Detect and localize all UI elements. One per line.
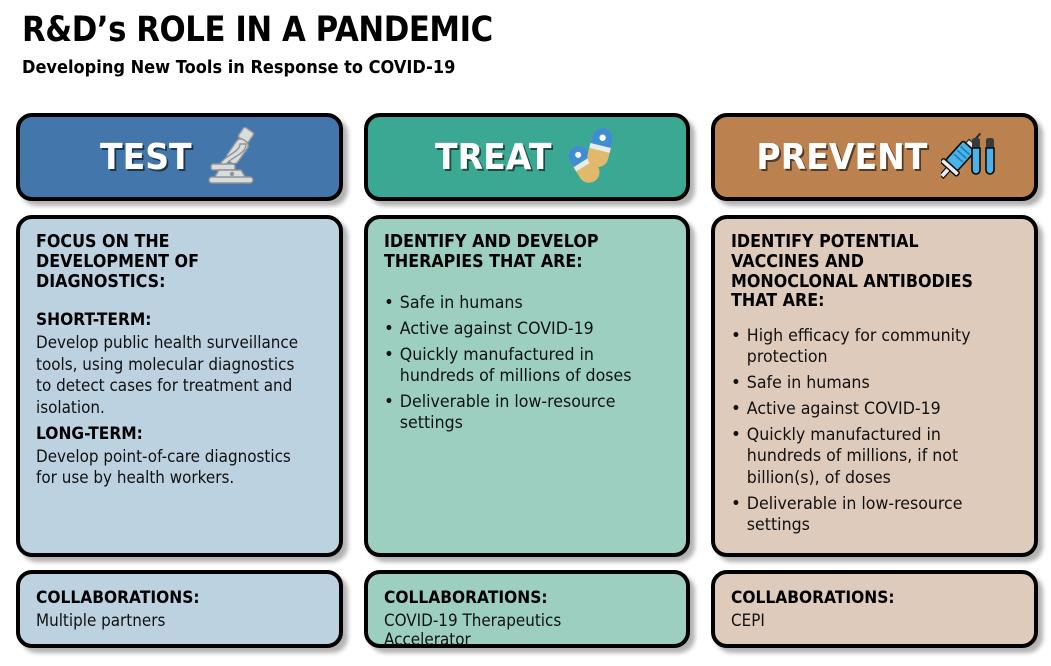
bullet-list-prevent: High efficacy for community protection S… [731,326,999,536]
panel-heading-treat: IDENTIFY AND DEVELOP THERAPIES THAT ARE: [384,233,647,273]
pill-header-treat[interactable]: TREAT [364,113,691,201]
list-item: High efficacy for community protection [731,326,999,368]
list-item: Safe in humans [731,373,999,394]
section-short-term: SHORT-TERM: Develop public health survei… [36,310,325,418]
collab-value-prevent: CEPI [731,611,995,630]
panel-test: FOCUS ON THE DEVELOPMENT OF DIAGNOSTICS:… [16,215,343,557]
list-item: Active against COVID-19 [384,319,652,340]
body-text-long-term: Develop point-of-care diagnostics for us… [36,446,302,489]
collab-value-test: Multiple partners [36,611,300,630]
bullet-list-treat: Safe in humans Active against COVID-19 Q… [384,293,652,434]
pill-header-prevent[interactable]: PREVENT [711,113,1038,201]
page-header: R&D’s ROLE IN A PANDEMIC Developing New … [0,0,1051,78]
collab-label-test: COLLABORATIONS: [36,588,297,608]
collab-value-treat: COVID-19 Therapeutics Accelerator [384,611,648,649]
column-prevent: PREVENT [711,113,1038,648]
collaborations-test: COLLABORATIONS: Multiple partners [16,570,343,648]
panel-heading-prevent: IDENTIFY POTENTIAL VACCINES AND MONOCLON… [731,233,994,312]
list-item: Quickly manufactured in hundreds of mill… [384,345,652,387]
collab-label-treat: COLLABORATIONS: [384,588,645,608]
panel-treat: IDENTIFY AND DEVELOP THERAPIES THAT ARE:… [364,215,691,557]
page-title: R&D’s ROLE IN A PANDEMIC [22,12,928,49]
list-item: Active against COVID-19 [731,399,999,420]
pillar-columns: TEST FOCUS ON THE DEVELOPMENT OF DIAGN [16,113,1038,648]
sub-head-short-term: SHORT-TERM: [36,310,299,330]
microscope-icon [201,124,263,191]
page-subtitle: Developing New Tools in Response to COVI… [22,57,948,78]
pill-label-prevent: PREVENT [756,137,927,178]
collab-label-prevent: COLLABORATIONS: [731,588,992,608]
section-long-term: LONG-TERM: Develop point-of-care diagnos… [36,424,325,489]
syringe-and-vials-icon [941,124,1001,191]
panel-prevent: IDENTIFY POTENTIAL VACCINES AND MONOCLON… [711,215,1038,557]
pills-capsules-icon [562,124,624,191]
list-item: Deliverable in low-resource settings [731,494,999,536]
pill-header-test[interactable]: TEST [16,113,343,201]
body-text-short-term: Develop public health surveillance tools… [36,332,302,418]
pill-label-test: TEST [100,137,192,178]
column-test: TEST FOCUS ON THE DEVELOPMENT OF DIAGN [16,113,343,648]
collaborations-treat: COLLABORATIONS: COVID-19 Therapeutics Ac… [364,570,691,648]
panel-heading-test: FOCUS ON THE DEVELOPMENT OF DIAGNOSTICS: [36,233,299,292]
list-item: Safe in humans [384,293,652,314]
list-item: Deliverable in low-resource settings [384,392,652,434]
column-treat: TREAT [364,113,691,648]
sub-head-long-term: LONG-TERM: [36,424,299,444]
collaborations-prevent: COLLABORATIONS: CEPI [711,570,1038,648]
list-item: Quickly manufactured in hundreds of mill… [731,425,999,488]
pill-label-treat: TREAT [435,137,551,178]
